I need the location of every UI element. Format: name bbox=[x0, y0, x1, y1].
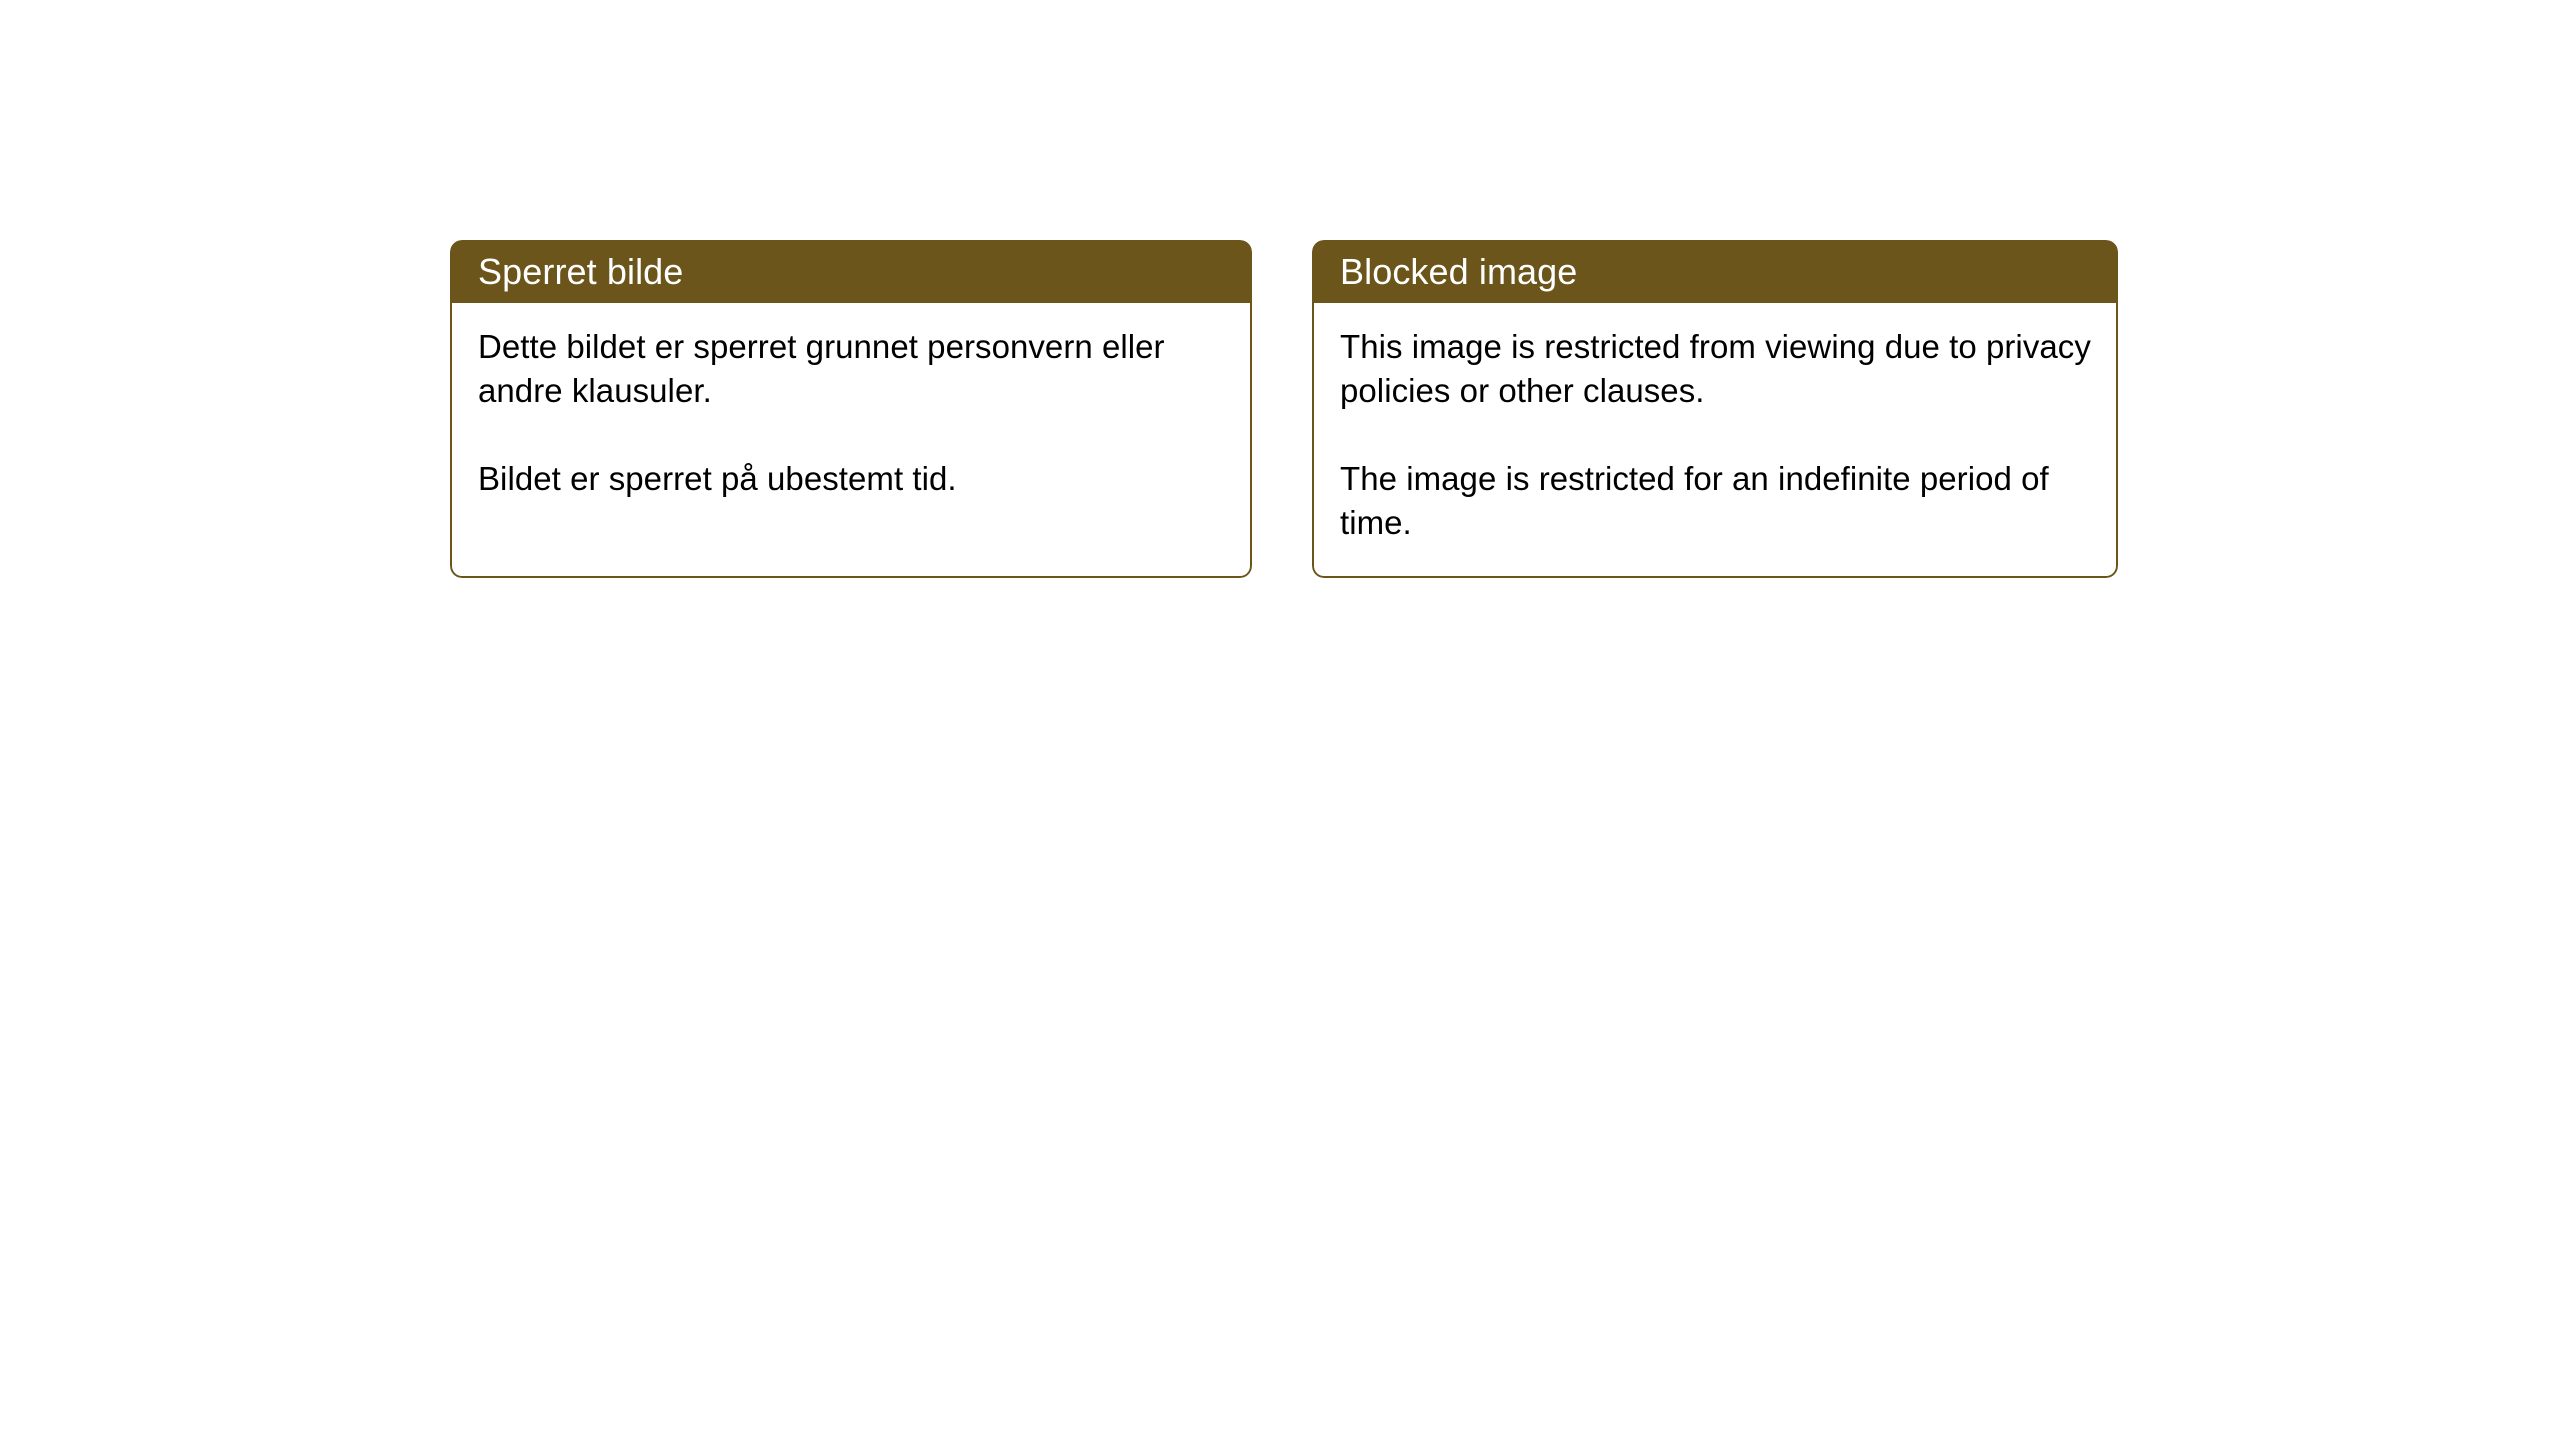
blocked-image-notice-en: Blocked image This image is restricted f… bbox=[1312, 240, 2118, 578]
notice-body-no: Dette bildet er sperret grunnet personve… bbox=[450, 303, 1252, 578]
notice-paragraph-reason-no: Dette bildet er sperret grunnet personve… bbox=[478, 325, 1226, 413]
notice-header-no: Sperret bilde bbox=[450, 240, 1252, 303]
notice-paragraph-reason-en: This image is restricted from viewing du… bbox=[1340, 325, 2092, 413]
notice-paragraph-duration-en: The image is restricted for an indefinit… bbox=[1340, 457, 2092, 545]
notice-body-en: This image is restricted from viewing du… bbox=[1312, 303, 2118, 578]
notice-title-no: Sperret bilde bbox=[478, 254, 683, 290]
page-canvas: Sperret bilde Dette bildet er sperret gr… bbox=[0, 0, 2560, 1440]
blocked-image-notice-no: Sperret bilde Dette bildet er sperret gr… bbox=[450, 240, 1252, 578]
notice-title-en: Blocked image bbox=[1340, 254, 1577, 290]
notice-header-en: Blocked image bbox=[1312, 240, 2118, 303]
notice-paragraph-duration-no: Bildet er sperret på ubestemt tid. bbox=[478, 457, 1226, 501]
